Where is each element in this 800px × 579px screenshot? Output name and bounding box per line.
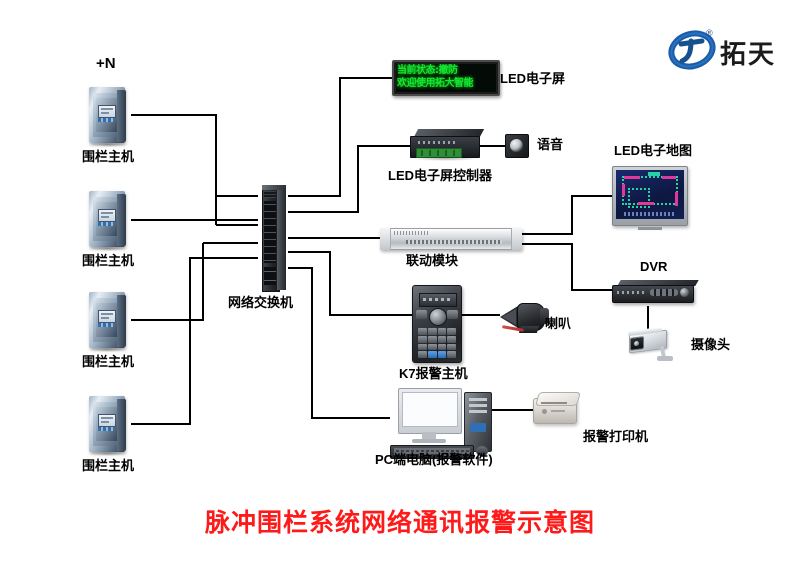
led-controller[interactable] [410,129,484,163]
rack-module-icon [380,228,522,250]
controller-box-icon [410,129,484,163]
printer-icon [533,390,579,424]
brand-name: 拓天 [720,34,776,71]
fence-host-icon [87,85,131,147]
network-switch-label: 网络交换机 [228,296,293,311]
brand-logo: ® 拓天 [668,28,792,74]
network-switch[interactable] [258,185,288,290]
camera-label: 摄像头 [691,338,730,353]
fence-host-3[interactable] [87,290,131,352]
k7-alarm-host-label: K7报警主机 [399,367,468,382]
diagram-title: 脉冲围栏系统网络通讯报警示意图 [0,503,800,539]
dvr-label: DVR [640,260,667,275]
fence-host-4[interactable] [87,394,131,456]
fence-host-2-label: 围栏主机 [82,254,134,269]
fence-host-3-label: 围栏主机 [82,355,134,370]
led-map-icon [612,166,688,226]
plus-n-label: +N [96,55,116,72]
led-map-label: LED电子地图 [614,144,692,159]
dvr-recorder-icon [612,280,698,306]
fence-host-1[interactable] [87,85,131,147]
led-controller-label: LED电子屏控制器 [388,169,492,184]
linkage-module[interactable] [380,228,522,250]
k7-alarm-host[interactable] [412,285,462,363]
led-display-icon: 当前状态:撤防 欢迎使用拓大智能 [392,60,500,96]
led-screen-line-1: 当前状态:撤防 [396,64,496,77]
printer-label: 报警打印机 [583,430,648,445]
voice-speaker-icon [505,134,529,158]
keypad-panel-icon [412,285,462,363]
fence-host-icon [87,290,131,352]
desktop-computer-icon [390,388,508,460]
voice-device[interactable] [505,134,529,158]
pc-label: PC端电脑(报警软件) [375,453,493,468]
fence-host-2[interactable] [87,189,131,251]
diagram-canvas: ® 拓天 +N 围栏主机 围栏主机 围栏主机 围栏主机 [0,0,800,579]
network-switch-icon [258,185,288,290]
led-screen[interactable]: 当前状态:撤防 欢迎使用拓大智能 [392,60,500,96]
registered-mark: ® [706,28,713,38]
led-screen-label: LED电子屏 [500,72,565,87]
voice-label: 语音 [537,138,563,153]
fence-host-4-label: 围栏主机 [82,459,134,474]
cctv-camera-icon [625,326,683,362]
camera-device[interactable] [625,326,683,362]
alarm-printer[interactable] [533,390,579,424]
fence-host-1-label: 围栏主机 [82,150,134,165]
dvr-device[interactable] [612,280,698,306]
pc-workstation[interactable] [390,388,508,460]
fence-host-icon [87,394,131,456]
fence-host-icon [87,189,131,251]
linkage-module-label: 联动模块 [406,254,458,269]
horn-label: 喇叭 [545,317,571,332]
led-screen-line-2: 欢迎使用拓大智能 [396,77,496,90]
led-map[interactable] [612,166,688,226]
